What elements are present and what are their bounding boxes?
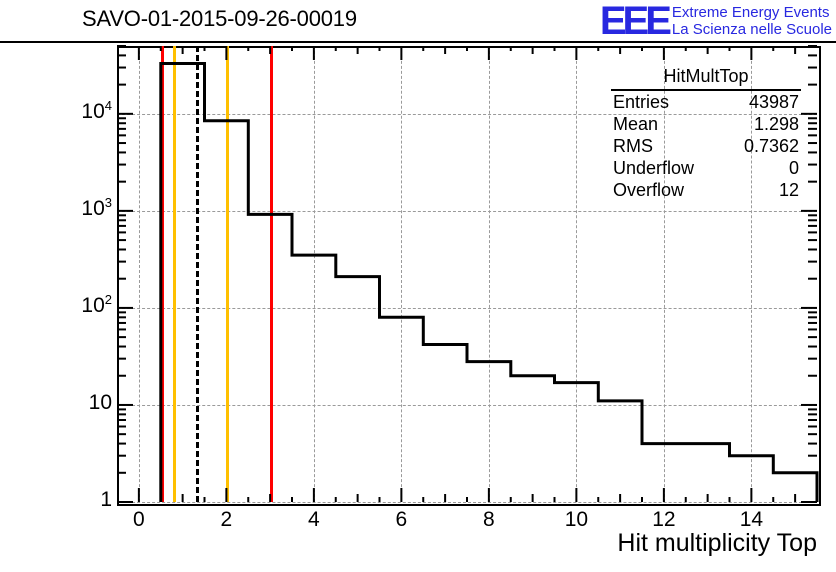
stats-value: 0 [789,157,799,179]
stats-key: Mean [613,113,658,135]
histogram-canvas: SAVO-01-2015-09-26-00019 EEE Extreme Ene… [0,0,836,572]
stats-key: RMS [613,135,653,157]
stats-value: 0.7362 [744,135,799,157]
stats-key: Underflow [613,157,694,179]
stats-box-title: HitMultTop [611,66,801,91]
stats-row: Underflow0 [611,157,801,179]
stats-row: Entries43987 [611,91,801,113]
stats-row: Overflow12 [611,179,801,201]
stats-row: Mean1.298 [611,113,801,135]
stats-row: RMS0.7362 [611,135,801,157]
stats-value: 1.298 [754,113,799,135]
stats-rows: Entries43987Mean1.298RMS0.7362Underflow0… [611,91,801,201]
stats-key: Overflow [613,179,684,201]
stats-value: 43987 [749,91,799,113]
stats-box: HitMultTop Entries43987Mean1.298RMS0.736… [611,66,801,201]
stats-key: Entries [613,91,669,113]
stats-value: 12 [779,179,799,201]
